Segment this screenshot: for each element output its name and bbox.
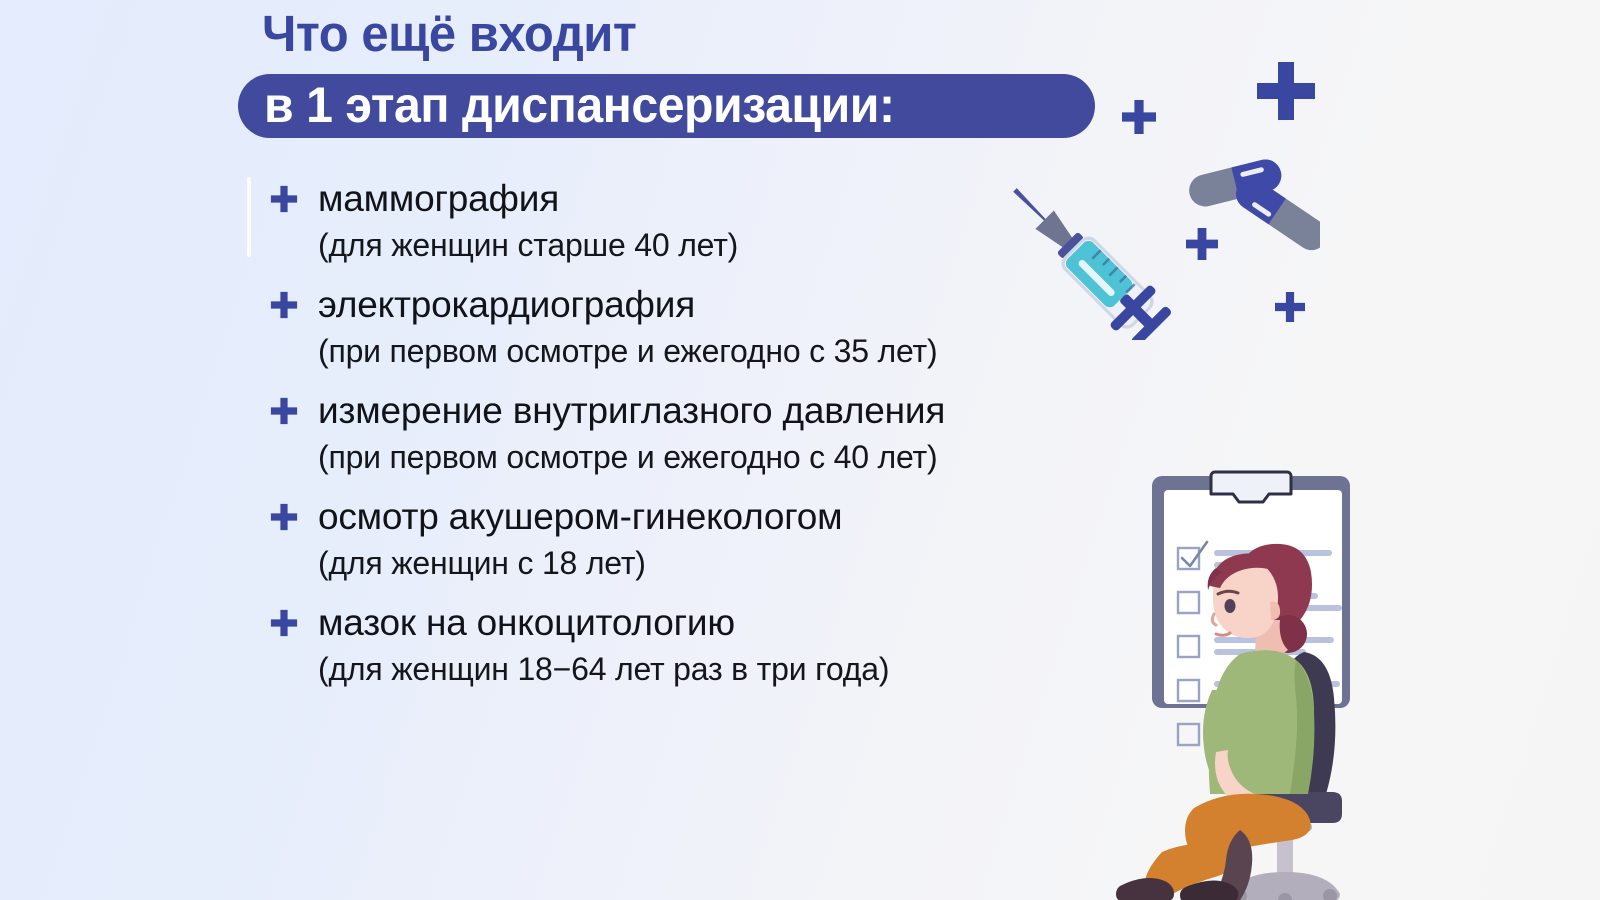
page-title-badge: в 1 этап диспансеризации: xyxy=(238,74,1095,138)
page-title-badge-label: в 1 этап диспансеризации: xyxy=(264,76,895,134)
page-title-line1: Что ещё входит xyxy=(262,4,636,63)
plus-cross-icon xyxy=(270,609,298,637)
list-item-title: электрокардиография xyxy=(318,284,695,325)
plus-cross-icon xyxy=(270,185,298,213)
plus-cross-icon xyxy=(270,291,298,319)
cross-small-lower-right-icon xyxy=(1275,292,1305,322)
left-accent-rule xyxy=(247,177,251,257)
list-item-title: измерение внутриглазного давления xyxy=(318,390,945,431)
infographic-poster: Что ещё входит в 1 этап диспансеризации:… xyxy=(0,0,1600,900)
plus-cross-icon xyxy=(270,397,298,425)
list-item-title: осмотр акушером-гинекологом xyxy=(318,496,842,537)
plus-cross-icon xyxy=(270,503,298,531)
list-item-title-row: измерение внутриглазного давления xyxy=(264,388,1264,434)
list-item-title: маммография xyxy=(318,178,559,219)
patient-with-checklist-illustration xyxy=(1090,462,1420,900)
cross-small-upper-icon xyxy=(1122,100,1156,134)
cross-large-upper-right-icon xyxy=(1257,62,1315,120)
capsule-pills-icon xyxy=(1180,150,1320,260)
list-item-title: мазок на онкоцитологию xyxy=(318,602,735,643)
syringe-icon xyxy=(980,170,1180,340)
